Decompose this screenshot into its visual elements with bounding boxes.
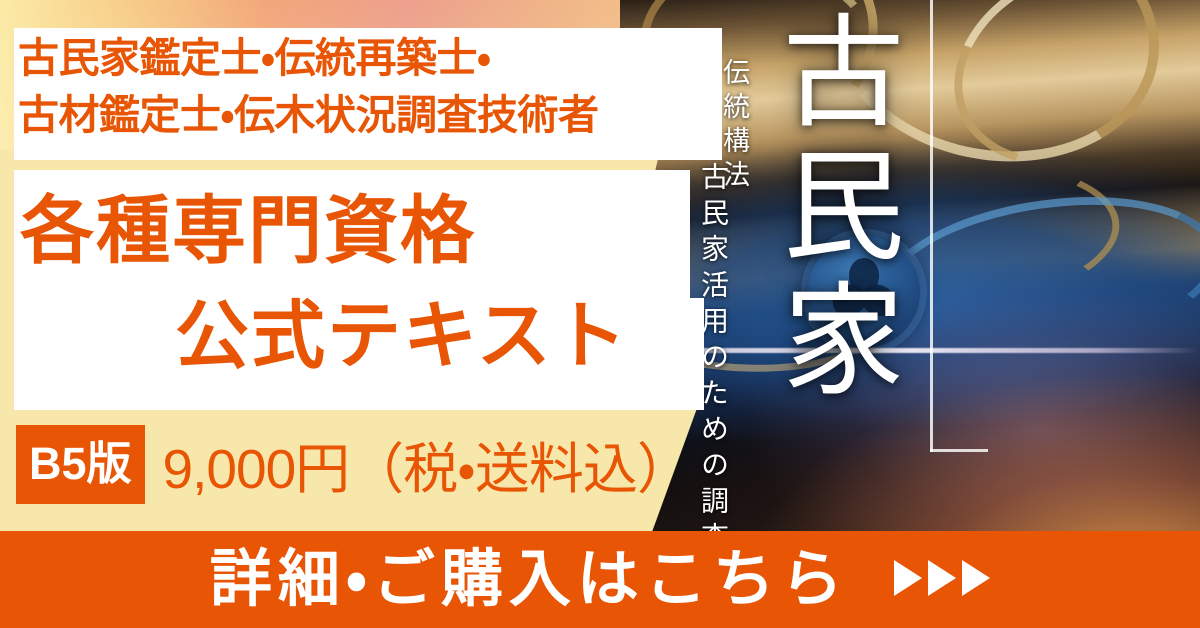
chevron-right-icon: [962, 560, 990, 596]
cta-arrows: [894, 560, 990, 596]
main-headline-line-1: 各種専門資格: [20, 189, 476, 272]
chevron-right-icon: [928, 560, 956, 596]
cover-rule-horizontal: [930, 449, 988, 452]
promo-banner: 古民家 伝統構法 古民家活用のための調査と再生の 古民家鑑定士・伝統再築士・ 古…: [0, 0, 1200, 628]
chevron-right-icon: [894, 560, 922, 596]
cover-rule-vertical: [930, 0, 933, 452]
main-headline: 各種専門資格 公式テキスト: [20, 178, 629, 388]
book-cover-title: 古民家: [770, 8, 892, 410]
cta-bar[interactable]: 詳細・ご購入はこちら: [0, 531, 1200, 628]
main-headline-line-2: 公式テキスト: [20, 283, 629, 388]
cta-label-wrap[interactable]: 詳細・ご購入はこちら: [210, 549, 990, 611]
certifications-line-1: 古民家鑑定士・伝統再築士・: [18, 30, 718, 87]
certifications-headline: 古民家鑑定士・伝統再築士・ 古材鑑定士・伝木状況調査技術者: [18, 30, 718, 143]
price-row: B5版 9,000円（税・送料込）: [16, 424, 691, 504]
price-amount: 9,000円（税・送料込）: [163, 424, 691, 504]
format-badge-b5: B5版: [16, 425, 145, 504]
cta-label[interactable]: 詳細・ご購入はこちら: [210, 545, 849, 614]
certifications-line-2: 古材鑑定士・伝木状況調査技術者: [18, 87, 718, 144]
